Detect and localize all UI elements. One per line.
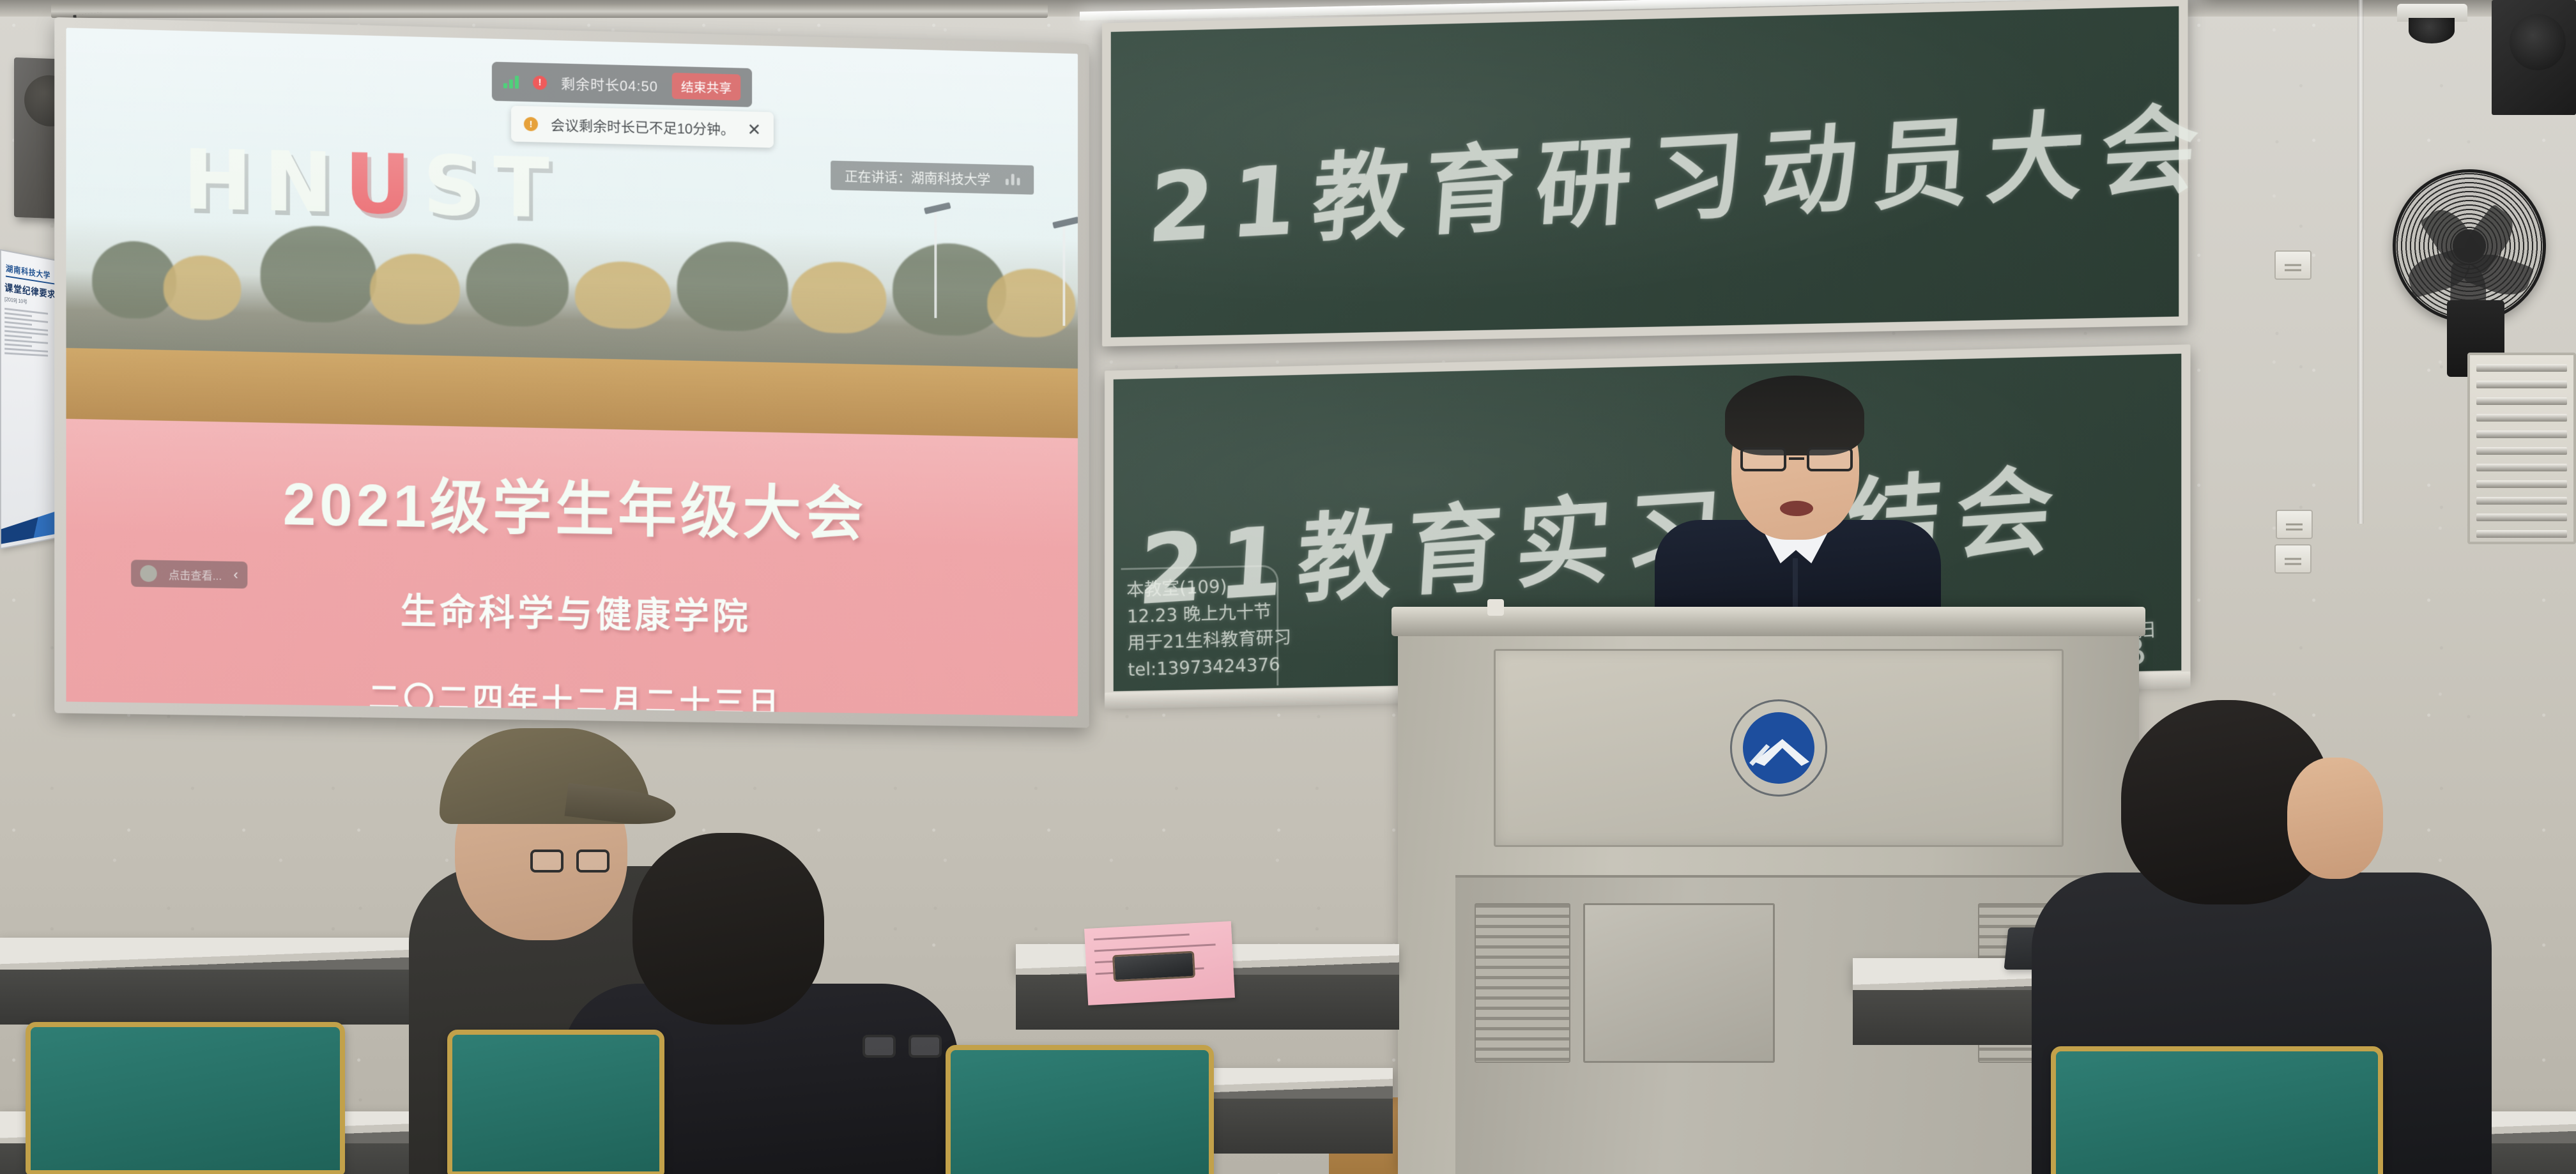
toast-message: 会议剩余时长已不足10分钟。 bbox=[551, 114, 735, 139]
dome-camera-icon bbox=[2397, 4, 2467, 42]
presenter-at-podium bbox=[1636, 376, 1955, 644]
avatar-icon bbox=[140, 565, 157, 583]
chevron-left-icon[interactable]: ‹ bbox=[233, 567, 238, 583]
wall-seam bbox=[2357, 0, 2364, 524]
attendee-hair bbox=[632, 833, 824, 1025]
presentation-slide: HNUST 2021级学生年级大会 生命科学与健康学院 二〇二四年十二月二十三日… bbox=[66, 27, 1078, 716]
blackboard-left-note: 本教室(109) 12.23 晚上九十节 用于21生科教育研习 tel:1397… bbox=[1126, 570, 1292, 683]
podium-top-surface bbox=[1391, 607, 2145, 636]
classroom-chair bbox=[946, 1045, 1214, 1174]
doc-text-line bbox=[1094, 933, 1190, 940]
attendee-face bbox=[2287, 758, 2383, 879]
blackboard-top: 21教育研习动员大会 bbox=[1102, 0, 2188, 346]
projector-screen-frame: HNUST 2021级学生年级大会 生命科学与健康学院 二〇二四年十二月二十三日… bbox=[54, 17, 1089, 728]
projector-screen[interactable]: HNUST 2021级学生年级大会 生命科学与健康学院 二〇二四年十二月二十三日… bbox=[66, 27, 1078, 716]
emblem-mountain-mark bbox=[1743, 712, 1814, 784]
hnust-university-emblem bbox=[1730, 699, 1827, 797]
doc-text-line bbox=[1094, 943, 1216, 952]
classroom-chair bbox=[2051, 1046, 2383, 1174]
wall-speaker-icon bbox=[2492, 0, 2576, 115]
glasses-icon bbox=[1740, 447, 1853, 473]
presenter-mouth bbox=[1780, 501, 1813, 516]
power-outlet-icon[interactable] bbox=[2274, 250, 2311, 280]
warning-circle-icon bbox=[524, 117, 538, 132]
classroom-chair bbox=[447, 1030, 664, 1174]
air-conditioner-vent-icon bbox=[2467, 353, 2576, 544]
microphone-knob-icon bbox=[1487, 599, 1504, 616]
participants-pill[interactable]: 点击查看... ‹ bbox=[131, 560, 247, 588]
end-share-button[interactable]: 结束共享 bbox=[672, 73, 740, 101]
presenter-hair bbox=[1725, 376, 1864, 455]
mobile-phone bbox=[1112, 951, 1195, 982]
cap-brim bbox=[564, 783, 677, 830]
slide-title: 2021级学生年级大会 bbox=[66, 452, 1078, 555]
camera-lens bbox=[2409, 18, 2455, 43]
meeting-warning-toast: 会议剩余时长已不足10分钟。 ✕ bbox=[511, 105, 774, 148]
glasses-icon bbox=[862, 1035, 942, 1060]
blackboard-top-headline: 21教育研习动员大会 bbox=[1144, 70, 2220, 270]
classroom-chair bbox=[26, 1022, 345, 1174]
wall-fan-icon bbox=[2393, 169, 2546, 323]
classroom-scene: 湖南科技大学 课堂纪律要求 [2019] 10号 bbox=[0, 0, 2576, 1174]
podium-front-panel bbox=[1494, 649, 2064, 847]
meeting-remaining-time: 剩余时长04:50 bbox=[561, 73, 658, 96]
poster-footer-band bbox=[1, 509, 63, 544]
mic-wave-icon bbox=[1006, 174, 1020, 185]
close-icon[interactable]: ✕ bbox=[747, 121, 762, 138]
baseball-cap-icon bbox=[440, 728, 650, 824]
signal-bars-icon bbox=[503, 75, 519, 89]
podium-equipment-panel bbox=[1583, 903, 1775, 1063]
active-speaker-label: 正在讲话：湖南科技大学 bbox=[845, 166, 990, 188]
power-outlet-icon[interactable] bbox=[2274, 544, 2311, 574]
alert-circle-icon bbox=[533, 75, 547, 90]
power-outlet-icon[interactable] bbox=[2276, 510, 2313, 539]
student-desk bbox=[0, 938, 434, 970]
desk-front-panel bbox=[0, 970, 434, 1025]
poster-text-line bbox=[4, 352, 59, 357]
active-speaker-chip: 正在讲话：湖南科技大学 bbox=[831, 160, 1034, 194]
lectern-podium bbox=[1398, 607, 2139, 1174]
podium-vent-left bbox=[1475, 903, 1570, 1063]
ceiling-rail bbox=[51, 4, 1048, 18]
participants-label: 点击查看... bbox=[169, 566, 222, 583]
meeting-toolbar[interactable]: 剩余时长04:50 结束共享 bbox=[492, 62, 752, 107]
